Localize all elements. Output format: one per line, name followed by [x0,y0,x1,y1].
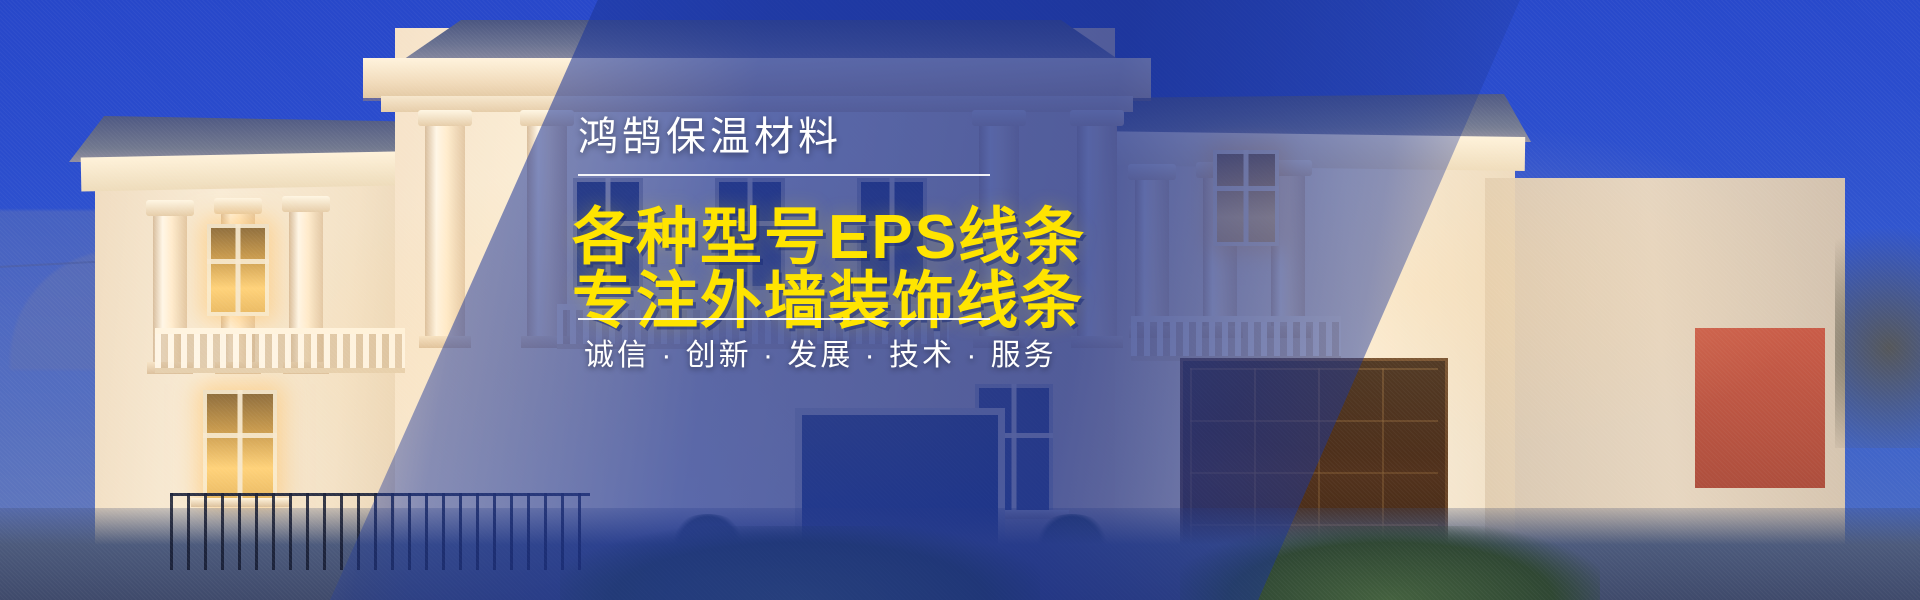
brand-name: 鸿鹄保温材料 [578,104,842,162]
iron-fence [170,493,590,570]
divider-above-slogan [578,318,990,320]
window-lit [207,224,269,316]
window-lit [203,390,277,502]
left-wing-cornice [81,151,444,192]
window-mullion [238,390,243,502]
divider-above-headline [578,174,990,176]
window-mullion [207,259,269,264]
window-mullion [236,224,241,316]
balcony-balustrade [155,328,405,373]
tree-branches [1835,198,1920,448]
column [425,124,465,338]
window-mullion [203,433,277,438]
slogan-text: 诚信 · 创新 · 发展 · 技术 · 服务 [584,330,1057,374]
banner-copy: 鸿鹄保温材料 各种型号EPS线条 专注外墙装饰线条 诚信 · 创新 · 发展 ·… [578,0,1538,600]
red-structure [1695,328,1825,488]
promo-banner: 鸿鹄保温材料 各种型号EPS线条 专注外墙装饰线条 诚信 · 创新 · 发展 ·… [0,0,1920,600]
headline-line-2: 专注外墙装饰线条 [572,250,1084,340]
